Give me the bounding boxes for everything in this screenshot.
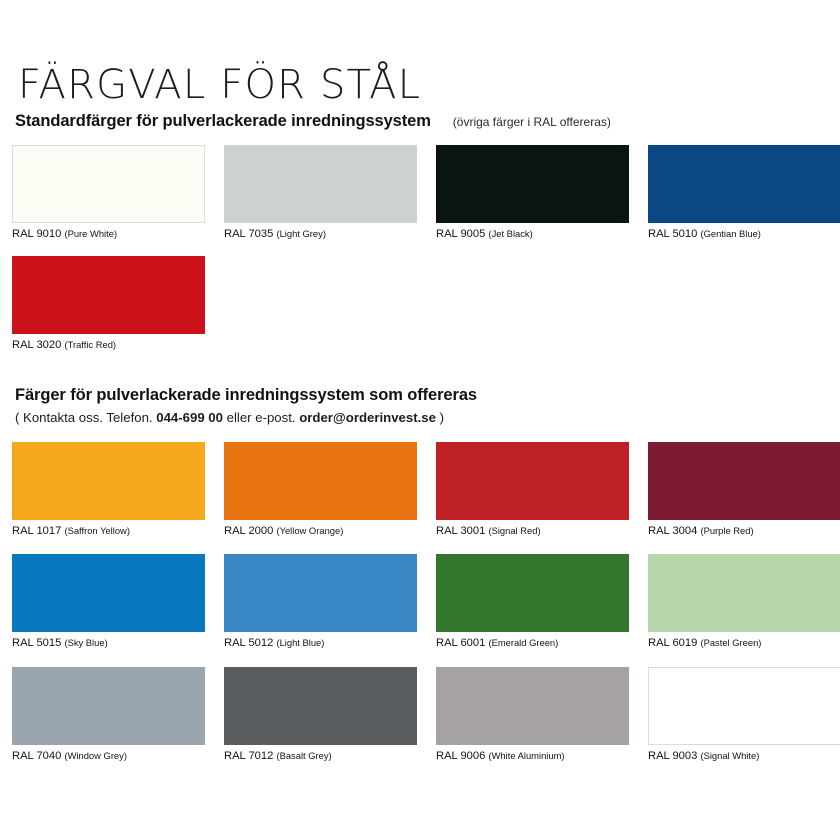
- color-swatch-ral-3020[interactable]: [12, 256, 205, 334]
- swatch-code: RAL 6019: [648, 637, 697, 649]
- swatch-cell[interactable]: RAL 5012 (Light Blue): [224, 554, 417, 649]
- contact-email[interactable]: order@orderinvest.se: [299, 410, 436, 425]
- swatch-code: RAL 3004: [648, 525, 697, 537]
- contact-suffix: ): [436, 410, 444, 425]
- swatch-name: (Light Blue): [276, 637, 324, 648]
- swatch-cell[interactable]: RAL 3001 (Signal Red): [436, 442, 629, 537]
- swatch-label: RAL 9010 (Pure White): [12, 228, 205, 240]
- section-standard-colors: Standardfärger för pulverlackerade inred…: [0, 112, 840, 352]
- swatch-grid-standard-row-2: RAL 3020 (Traffic Red): [0, 256, 840, 351]
- section-standard-heading: Standardfärger för pulverlackerade inred…: [15, 112, 431, 131]
- swatch-cell[interactable]: RAL 5010 (Gentian Blue): [648, 145, 840, 240]
- color-swatch-ral-6001[interactable]: [436, 554, 629, 632]
- swatch-name: (Emerald Green): [488, 637, 558, 648]
- color-swatch-ral-6019[interactable]: [648, 554, 840, 632]
- swatch-name: (Window Grey): [64, 750, 127, 761]
- section-standard-header-row: Standardfärger för pulverlackerade inred…: [0, 112, 840, 131]
- swatch-label: RAL 3004 (Purple Red): [648, 525, 840, 537]
- swatch-label: RAL 9005 (Jet Black): [436, 228, 629, 240]
- swatch-label: RAL 9003 (Signal White): [648, 750, 840, 762]
- swatch-cell[interactable]: RAL 3004 (Purple Red): [648, 442, 840, 537]
- swatch-name: (Yellow Orange): [276, 525, 343, 536]
- section-offered-colors: Färger för pulverlackerade inredningssys…: [0, 386, 840, 762]
- color-swatch-ral-2000[interactable]: [224, 442, 417, 520]
- swatch-name: (Purple Red): [700, 525, 753, 536]
- swatch-grid-offered-row-1: RAL 1017 (Saffron Yellow) RAL 2000 (Yell…: [0, 442, 840, 537]
- color-swatch-ral-7012[interactable]: [224, 667, 417, 745]
- swatch-name: (Sky Blue): [64, 637, 107, 648]
- swatch-name: (White Aluminium): [488, 750, 564, 761]
- swatch-code: RAL 5010: [648, 228, 697, 240]
- swatch-cell[interactable]: RAL 6019 (Pastel Green): [648, 554, 840, 649]
- color-swatch-ral-3001[interactable]: [436, 442, 629, 520]
- swatch-cell[interactable]: RAL 7035 (Light Grey): [224, 145, 417, 240]
- swatch-label: RAL 6019 (Pastel Green): [648, 637, 840, 649]
- swatch-name: (Pure White): [64, 228, 117, 239]
- swatch-cell[interactable]: RAL 2000 (Yellow Orange): [224, 442, 417, 537]
- swatch-cell[interactable]: RAL 6001 (Emerald Green): [436, 554, 629, 649]
- color-swatch-ral-9010[interactable]: [12, 145, 205, 223]
- swatch-cell[interactable]: RAL 7012 (Basalt Grey): [224, 667, 417, 762]
- swatch-name: (Gentian Blue): [700, 228, 760, 239]
- swatch-code: RAL 6001: [436, 637, 485, 649]
- color-swatch-ral-3004[interactable]: [648, 442, 840, 520]
- contact-middle: eller e-post.: [223, 410, 299, 425]
- swatch-label: RAL 9006 (White Aluminium): [436, 750, 629, 762]
- section-offered-header-row: Färger för pulverlackerade inredningssys…: [0, 386, 840, 405]
- swatch-label: RAL 2000 (Yellow Orange): [224, 525, 417, 537]
- swatch-label: RAL 7040 (Window Grey): [12, 750, 205, 762]
- swatch-name: (Pastel Green): [700, 637, 761, 648]
- swatch-name: (Jet Black): [488, 228, 532, 239]
- swatch-code: RAL 1017: [12, 525, 61, 537]
- swatch-code: RAL 5012: [224, 637, 273, 649]
- swatch-cell[interactable]: RAL 1017 (Saffron Yellow): [12, 442, 205, 537]
- swatch-cell[interactable]: RAL 7040 (Window Grey): [12, 667, 205, 762]
- swatch-cell[interactable]: RAL 9010 (Pure White): [12, 145, 205, 240]
- swatch-label: RAL 6001 (Emerald Green): [436, 637, 629, 649]
- swatch-cell[interactable]: RAL 5015 (Sky Blue): [12, 554, 205, 649]
- contact-phone[interactable]: 044-699 00: [156, 410, 223, 425]
- swatch-code: RAL 9006: [436, 750, 485, 762]
- swatch-label: RAL 3001 (Signal Red): [436, 525, 629, 537]
- swatch-name: (Saffron Yellow): [64, 525, 130, 536]
- swatch-name: (Signal White): [700, 750, 759, 761]
- swatch-code: RAL 3020: [12, 339, 61, 351]
- swatch-code: RAL 9005: [436, 228, 485, 240]
- section-standard-note: (övriga färger i RAL offereras): [453, 115, 611, 129]
- swatch-label: RAL 5010 (Gentian Blue): [648, 228, 840, 240]
- swatch-code: RAL 2000: [224, 525, 273, 537]
- contact-prefix: ( Kontakta oss. Telefon.: [15, 410, 156, 425]
- color-swatch-ral-5015[interactable]: [12, 554, 205, 632]
- contact-line: ( Kontakta oss. Telefon. 044-699 00 elle…: [0, 410, 840, 425]
- swatch-code: RAL 7012: [224, 750, 273, 762]
- page-title: FÄRGVAL FÖR STÅL: [18, 63, 421, 107]
- swatch-grid-offered-row-3: RAL 7040 (Window Grey) RAL 7012 (Basalt …: [0, 667, 840, 762]
- swatch-name: (Signal Red): [488, 525, 540, 536]
- color-swatch-ral-5010[interactable]: [648, 145, 840, 223]
- swatch-cell[interactable]: RAL 3020 (Traffic Red): [12, 256, 205, 351]
- swatch-name: (Basalt Grey): [276, 750, 331, 761]
- color-swatch-ral-5012[interactable]: [224, 554, 417, 632]
- swatch-cell[interactable]: RAL 9005 (Jet Black): [436, 145, 629, 240]
- color-swatch-ral-9003[interactable]: [648, 667, 840, 745]
- swatch-code: RAL 5015: [12, 637, 61, 649]
- swatch-cell[interactable]: RAL 9006 (White Aluminium): [436, 667, 629, 762]
- color-swatch-ral-7035[interactable]: [224, 145, 417, 223]
- swatch-label: RAL 1017 (Saffron Yellow): [12, 525, 205, 537]
- swatch-label: RAL 5012 (Light Blue): [224, 637, 417, 649]
- swatch-code: RAL 9010: [12, 228, 61, 240]
- swatch-code: RAL 7035: [224, 228, 273, 240]
- swatch-cell[interactable]: RAL 9003 (Signal White): [648, 667, 840, 762]
- swatch-code: RAL 9003: [648, 750, 697, 762]
- color-swatch-ral-1017[interactable]: [12, 442, 205, 520]
- color-swatch-ral-9006[interactable]: [436, 667, 629, 745]
- swatch-label: RAL 3020 (Traffic Red): [12, 339, 205, 351]
- swatch-code: RAL 7040: [12, 750, 61, 762]
- swatch-name: (Light Grey): [276, 228, 326, 239]
- color-swatch-ral-7040[interactable]: [12, 667, 205, 745]
- section-offered-heading: Färger för pulverlackerade inredningssys…: [15, 386, 477, 405]
- swatch-label: RAL 7012 (Basalt Grey): [224, 750, 417, 762]
- swatch-grid-offered-row-2: RAL 5015 (Sky Blue) RAL 5012 (Light Blue…: [0, 554, 840, 649]
- swatch-label: RAL 5015 (Sky Blue): [12, 637, 205, 649]
- swatch-code: RAL 3001: [436, 525, 485, 537]
- swatch-name: (Traffic Red): [64, 339, 116, 350]
- swatch-grid-standard-row-1: RAL 9010 (Pure White) RAL 7035 (Light Gr…: [0, 145, 840, 240]
- swatch-label: RAL 7035 (Light Grey): [224, 228, 417, 240]
- color-swatch-ral-9005[interactable]: [436, 145, 629, 223]
- color-chart-page: FÄRGVAL FÖR STÅL Standardfärger för pulv…: [0, 0, 840, 840]
